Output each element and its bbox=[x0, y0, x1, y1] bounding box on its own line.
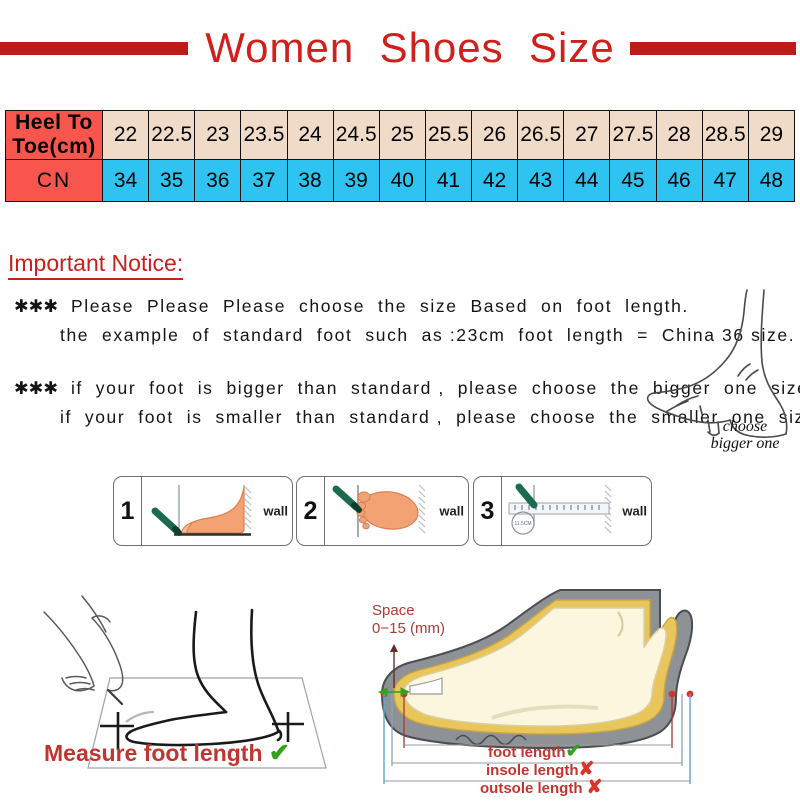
row-label-heel-to-toe: Heel To Toe(cm) bbox=[6, 111, 103, 160]
cell-cn: 39 bbox=[333, 160, 379, 202]
cell-cn: 37 bbox=[241, 160, 287, 202]
cell-cn: 38 bbox=[287, 160, 333, 202]
asterisk-bullet-icon: ✱✱✱ bbox=[14, 378, 58, 398]
cell-cm: 29 bbox=[748, 111, 794, 160]
cell-cn: 36 bbox=[195, 160, 241, 202]
title-rule-left bbox=[0, 42, 188, 55]
cell-cn: 40 bbox=[379, 160, 425, 202]
notice-line-1: ✱✱✱ Please Please Please choose the size… bbox=[14, 296, 689, 317]
page-title: Women Shoes Size bbox=[188, 22, 632, 74]
size-conversion-table: Heel To Toe(cm) 22 22.5 23 23.5 24 24.5 … bbox=[5, 110, 795, 202]
shoe-cross-section-diagram: Space 0−15 (mm) foot length✔ insole leng… bbox=[360, 582, 800, 800]
step-3-number: 3 bbox=[474, 477, 502, 545]
cell-cm: 27 bbox=[564, 111, 610, 160]
cell-cn: 43 bbox=[518, 160, 564, 202]
cell-cn: 41 bbox=[425, 160, 471, 202]
step-2-wall-label: wall bbox=[439, 504, 464, 519]
asterisk-bullet-icon: ✱✱✱ bbox=[14, 296, 58, 316]
cell-cm: 26 bbox=[472, 111, 518, 160]
cell-cm: 24.5 bbox=[333, 111, 379, 160]
cell-cn: 44 bbox=[564, 160, 610, 202]
cell-cm: 28.5 bbox=[702, 111, 748, 160]
cell-cm: 25 bbox=[379, 111, 425, 160]
space-annotation: Space 0−15 (mm) bbox=[372, 602, 445, 638]
cell-cn: 48 bbox=[748, 160, 794, 202]
measure-step-1: 1 wall bbox=[113, 476, 293, 546]
step-3-wall-label: wall bbox=[622, 504, 647, 519]
cell-cm: 23.5 bbox=[241, 111, 287, 160]
outsole-length-text: outsole length bbox=[480, 780, 583, 797]
outsole-length-label: outsole length ✘ bbox=[480, 776, 603, 799]
cell-cn: 34 bbox=[103, 160, 149, 202]
table-row-heel-to-toe: Heel To Toe(cm) 22 22.5 23 23.5 24 24.5 … bbox=[6, 111, 795, 160]
cell-cm: 22 bbox=[103, 111, 149, 160]
cell-cm: 28 bbox=[656, 111, 702, 160]
check-mark-icon: ✔ bbox=[269, 739, 290, 767]
step-1-wall-label: wall bbox=[263, 504, 288, 519]
measure-foot-length-caption: Measure foot length ✔ bbox=[44, 738, 290, 768]
cell-cn: 35 bbox=[149, 160, 195, 202]
space-label-line1: Space bbox=[372, 602, 415, 619]
cross-mark-icon: ✘ bbox=[587, 777, 603, 798]
step-2-number: 2 bbox=[297, 477, 325, 545]
cell-cm: 22.5 bbox=[149, 111, 195, 160]
cell-cm: 26.5 bbox=[518, 111, 564, 160]
important-notice-heading: Important Notice: bbox=[8, 250, 183, 280]
cell-cm: 27.5 bbox=[610, 111, 656, 160]
table-row-cn: CN 34 35 36 37 38 39 40 41 42 43 44 45 4… bbox=[6, 160, 795, 202]
cell-cn: 47 bbox=[702, 160, 748, 202]
cell-cn: 45 bbox=[610, 160, 656, 202]
notice-line-1-text: Please Please Please choose the size Bas… bbox=[71, 296, 689, 316]
cell-cm: 23 bbox=[195, 111, 241, 160]
cell-cn: 42 bbox=[472, 160, 518, 202]
choose-bigger-one-caption: choose bigger one bbox=[690, 418, 800, 452]
cell-cm: 25.5 bbox=[425, 111, 471, 160]
step-1-number: 1 bbox=[114, 477, 142, 545]
cell-cn: 46 bbox=[656, 160, 702, 202]
space-label-line2: 0−15 (mm) bbox=[372, 620, 445, 637]
measure-step-2: 2 wall bbox=[296, 476, 469, 546]
choose-bigger-line1: choose bbox=[723, 418, 767, 435]
step-3-ruler-mark: 11.5CM bbox=[514, 521, 531, 527]
cell-cm: 24 bbox=[287, 111, 333, 160]
choose-bigger-line2: bigger one bbox=[711, 435, 780, 452]
title-rule-right bbox=[630, 42, 796, 55]
measure-caption-text: Measure foot length bbox=[44, 740, 263, 766]
measure-step-3: 3 11.5CM wall bbox=[473, 476, 652, 546]
page-header: Women Shoes Size bbox=[0, 12, 800, 74]
row-label-cn: CN bbox=[6, 160, 103, 202]
